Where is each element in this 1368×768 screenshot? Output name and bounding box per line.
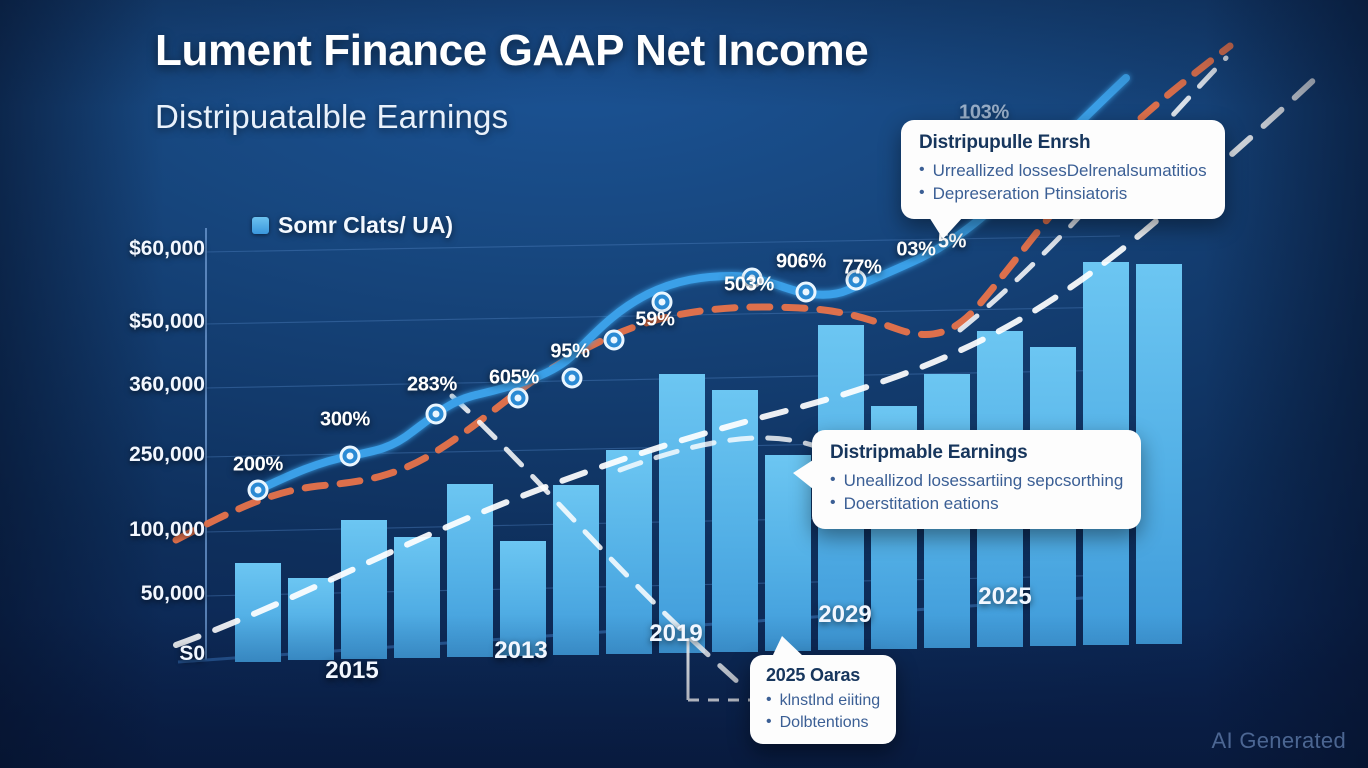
- data-label: 503%: [724, 274, 774, 297]
- callout-bullet-text: Uneallizod losessartiing sepcsorthing: [844, 470, 1124, 493]
- data-label: 906%: [776, 251, 826, 274]
- watermark-label: AI Generated: [1212, 728, 1346, 754]
- callout-bullet-text: Depreseration Ptinsiatoris: [933, 183, 1128, 206]
- data-label: 200%: [233, 454, 283, 477]
- bar: [606, 450, 652, 654]
- legend-swatch-icon: [252, 217, 269, 234]
- page-subtitle: Distripuatalble Earnings: [155, 98, 508, 136]
- callout-tail: [929, 217, 963, 239]
- y-tick: $50,000: [129, 310, 205, 334]
- bullet-icon: •: [830, 493, 836, 513]
- callout-distributable-earnings-mid[interactable]: Distripmable Earnings • Uneallizod loses…: [812, 430, 1141, 529]
- y-tick: 360,000: [129, 373, 205, 397]
- chart-legend: Somr Clats/ UA): [252, 212, 453, 239]
- callout-bullet-text: Doerstitation eations: [844, 493, 999, 516]
- data-label: 59%: [635, 309, 674, 332]
- data-label: 77%: [842, 257, 881, 280]
- bar: [341, 520, 387, 659]
- callout-bullet-text: klnstlnd eiiting: [780, 690, 881, 712]
- callout-bullet: • Urreallized lossesDelrenalsumatitios: [919, 160, 1207, 183]
- bar: [394, 537, 440, 658]
- data-label: 300%: [320, 409, 370, 432]
- y-axis-labels: $60,000 $50,000 360,000 250,000 100,000 …: [60, 0, 205, 768]
- bullet-icon: •: [919, 183, 925, 203]
- y-tick: 250,000: [129, 443, 205, 467]
- callout-bullet: • Depreseration Ptinsiatoris: [919, 183, 1207, 206]
- callout-bullet: • Dolbtentions: [766, 712, 880, 734]
- callout-bullet: • Uneallizod losessartiing sepcsorthing: [830, 470, 1123, 493]
- x-tick: 2019: [649, 620, 702, 648]
- x-tick: 2015: [325, 657, 378, 685]
- callout-title: Distripupulle Enrsh: [919, 132, 1207, 154]
- y-tick: $60,000: [129, 237, 205, 261]
- callout-tail: [772, 636, 804, 657]
- bullet-icon: •: [766, 712, 772, 732]
- data-label: 95%: [550, 341, 589, 364]
- callout-2025-outlook[interactable]: 2025 Oaras • klnstlnd eiiting • Dolbtent…: [750, 655, 896, 744]
- x-tick: 2013: [494, 637, 547, 665]
- x-tick: 2029: [818, 601, 871, 629]
- data-label: 283%: [407, 374, 457, 397]
- y-tick: 100,000: [129, 518, 205, 542]
- callout-title: Distripmable Earnings: [830, 442, 1123, 464]
- callout-bullet: • klnstlnd eiiting: [766, 690, 880, 712]
- x-tick: 2025: [978, 583, 1031, 611]
- legend-label: Somr Clats/ UA): [278, 212, 453, 239]
- chart-canvas: Lument Finance GAAP Net Income Distripua…: [0, 0, 1368, 768]
- callout-bullet-text: Dolbtentions: [780, 712, 869, 734]
- callout-title: 2025 Oaras: [766, 665, 880, 686]
- bullet-icon: •: [830, 470, 836, 490]
- callout-bullet: • Doerstitation eations: [830, 493, 1123, 516]
- bar: [1136, 264, 1182, 644]
- callout-distributable-earnings-top[interactable]: Distripupulle Enrsh • Urreallized losses…: [901, 120, 1225, 219]
- bullet-icon: •: [766, 690, 772, 710]
- bar: [712, 390, 758, 652]
- data-label: 605%: [489, 367, 539, 390]
- data-label: 03%: [896, 239, 935, 262]
- y-tick: 50,000: [141, 582, 205, 606]
- callout-tail: [793, 460, 813, 489]
- y-tick: S0: [179, 642, 205, 666]
- bullet-icon: •: [919, 160, 925, 180]
- page-title: Lument Finance GAAP Net Income: [155, 26, 868, 76]
- callout-bullet-text: Urreallized lossesDelrenalsumatitios: [933, 160, 1207, 183]
- bar: [553, 485, 599, 655]
